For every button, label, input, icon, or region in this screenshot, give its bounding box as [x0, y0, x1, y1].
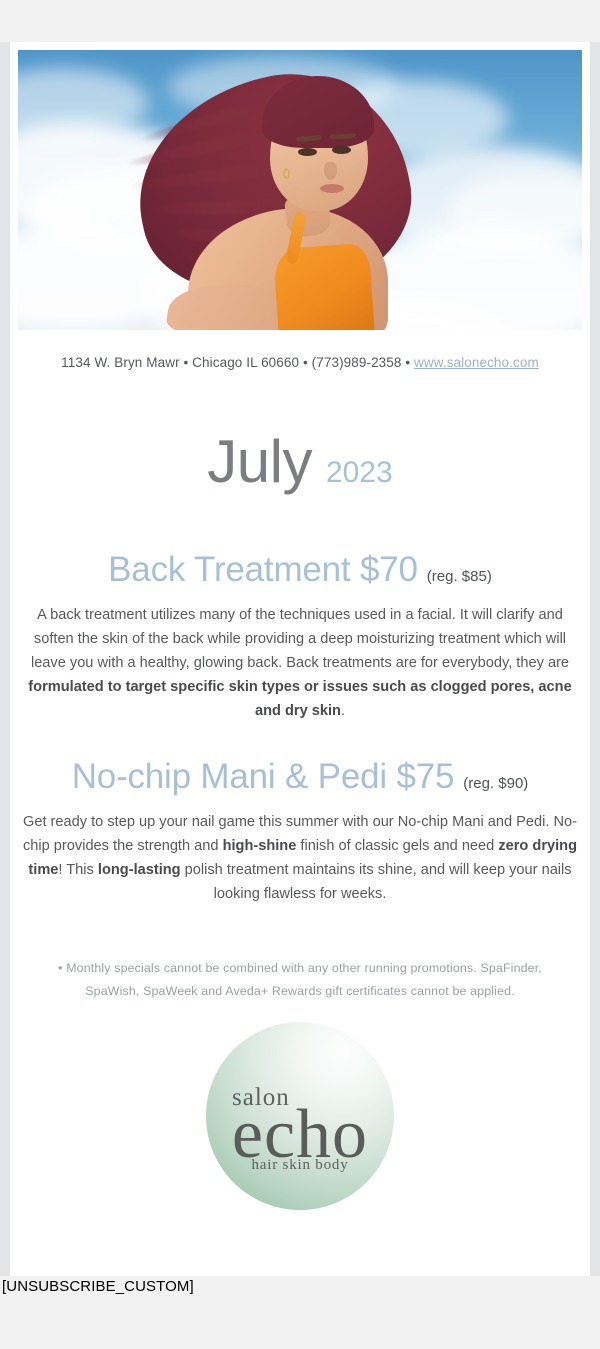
offer-heading: Back Treatment $70(reg. $85) [10, 551, 590, 590]
offer-title: No-chip Mani & Pedi $75 [72, 757, 455, 796]
earring-icon [283, 168, 290, 179]
offer-heading: No-chip Mani & Pedi $75(reg. $90) [10, 758, 590, 797]
issue-year: 2023 [326, 456, 393, 489]
nose [324, 162, 337, 180]
issue-date-heading: July2023 [10, 427, 590, 496]
eye [298, 148, 317, 156]
offer-text-emphasis: high-shine [223, 838, 297, 854]
offer-text-emphasis: long-lasting [98, 862, 181, 878]
unsubscribe-link[interactable]: [UNSUBSCRIBE_CUSTOM] [2, 1278, 194, 1295]
email-content-card: 1134 W. Bryn Mawr • Chicago IL 60660 • (… [10, 42, 590, 1276]
offer-block-no-chip-mani-pedi: No-chip Mani & Pedi $75(reg. $90) Get re… [10, 758, 590, 906]
offer-text-segment: ! This [58, 862, 97, 878]
offer-description: Get ready to step up your nail game this… [10, 810, 590, 906]
offer-text-segment: finish of classic gels and need [296, 838, 498, 854]
lips [320, 184, 344, 193]
offer-text-segment: A back treatment utilizes many of the te… [31, 607, 569, 671]
offer-regular-price: (reg. $90) [463, 775, 528, 792]
business-address-line: 1134 W. Bryn Mawr • Chicago IL 60660 • (… [10, 355, 590, 370]
issue-month: July [207, 428, 312, 495]
model-figure [18, 50, 582, 330]
offer-text-segment: . [341, 703, 345, 719]
offer-regular-price: (reg. $85) [427, 568, 492, 585]
offer-title: Back Treatment $70 [108, 550, 418, 589]
offer-text-emphasis: formulated to target specific skin types… [28, 679, 571, 719]
logo-tagline: hair skin body [206, 1157, 394, 1174]
offer-block-back-treatment: Back Treatment $70(reg. $85) A back trea… [10, 551, 590, 723]
website-link[interactable]: www.salonecho.com [414, 355, 539, 370]
salon-echo-logo: salon echo hair skin body [206, 1022, 394, 1210]
email-newsletter-page: 1134 W. Bryn Mawr • Chicago IL 60660 • (… [0, 0, 600, 1349]
offer-text-segment: polish treatment maintains its shine, an… [181, 862, 572, 902]
promotions-disclaimer: • Monthly specials cannot be combined wi… [10, 957, 590, 1003]
hero-image [18, 50, 582, 330]
address-text: 1134 W. Bryn Mawr • Chicago IL 60660 • (… [61, 355, 414, 370]
eye [332, 146, 351, 154]
offer-description: A back treatment utilizes many of the te… [10, 603, 590, 723]
